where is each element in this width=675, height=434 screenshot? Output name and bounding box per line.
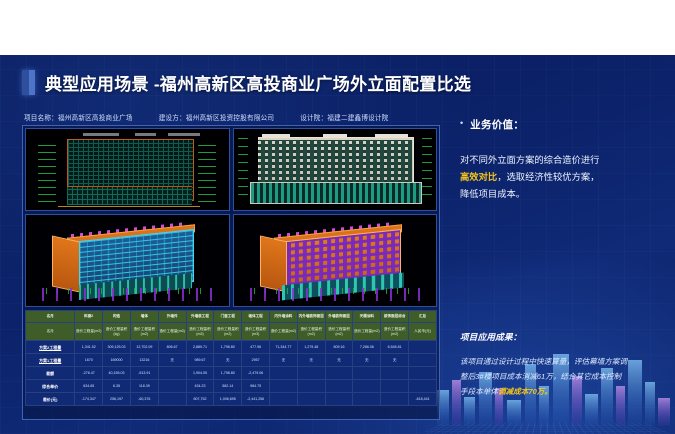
th-unit-8: 造价工程量(m2) <box>270 323 298 341</box>
cell: 634.65 <box>75 380 103 393</box>
th-category-7: 墙体工程 <box>242 311 270 323</box>
th-unit-13: 人民币(元) <box>409 323 437 341</box>
business-value-heading-row: • 业务价值： <box>460 117 660 132</box>
cell: 1670 <box>75 354 103 367</box>
th-unit-1: 造价工程量(m2) <box>75 323 103 341</box>
th-unit-11: 造价工程量(m2) <box>353 323 381 341</box>
cell: 256,197 <box>103 393 131 406</box>
business-value-line-1: 对不同外立面方案的综合造价进行 <box>460 152 660 169</box>
row-label: 方案1工程量 <box>26 354 75 367</box>
cell: 6.35 <box>103 380 131 393</box>
cell: 12,702.09 <box>130 341 158 354</box>
th-unit-3: 造价工程量积(m2) <box>130 323 158 341</box>
cell: 807,752 <box>186 393 214 406</box>
meta-design-institute: 设计院：福建二建鑫博设计院 <box>300 112 388 122</box>
cell <box>353 393 381 406</box>
cell <box>297 380 325 393</box>
th-category-12: 装饰面层综合 <box>381 311 409 323</box>
cell <box>409 341 437 354</box>
table-row: 综合单价 634.65 6.35 118.39 434.23 582.14 98… <box>26 380 437 393</box>
cell <box>325 393 353 406</box>
table-row: 差价(元) -174,347 256,197 -60,376 807,752 1… <box>26 393 437 406</box>
cell <box>270 367 298 380</box>
cell: 984.75 <box>242 380 270 393</box>
cell <box>270 393 298 406</box>
cell: 无 <box>297 354 325 367</box>
cell: 1,341.52 <box>75 341 103 354</box>
th-category-3: 墙体 <box>130 311 158 323</box>
th-unit-2: 造价工程量积(kg) <box>103 323 131 341</box>
project-result-heading: 项目应用成果： <box>460 331 665 343</box>
th-unit-5: 造价工程量积(m3) <box>186 323 214 341</box>
presentation-slide: 典型应用场景 -福州高新区高投商业广场外立面配置比选 项目名称：福州高新区高投商… <box>0 55 675 434</box>
cell: -276.47 <box>75 367 103 380</box>
cell: 2,889.71 <box>186 341 214 354</box>
table-header-row-category: 名月 料面2 构造 墙体 外墙件 外墙装工程 门窗工程 墙体工程 内外墙涂料 内… <box>26 311 437 323</box>
cell: 1,006,695 <box>214 393 242 406</box>
cell: 7,286.06 <box>353 341 381 354</box>
th-category-6: 门窗工程 <box>214 311 242 323</box>
project-result-line-3: 手段本单体调减成本70万。 <box>460 384 665 399</box>
rendered-elevation-icon <box>234 129 437 210</box>
cell <box>325 380 353 393</box>
gallery-item-cad-elevation-drawing[interactable] <box>25 128 230 211</box>
row-label: 方案2工程量 <box>26 341 75 354</box>
gallery-item-bim-model-scheme-2[interactable] <box>233 214 438 307</box>
cell <box>409 380 437 393</box>
cell: 1,904.05 <box>186 367 214 380</box>
th-category-10: 外墙装饰面层 <box>325 311 353 323</box>
slide-page: 典型应用场景 -福州高新区高投商业广场外立面配置比选 项目名称：福州高新区高投商… <box>0 0 675 434</box>
project-result-line-2: 整后3#楼项目成本消减61万，结合其它成本控制 <box>460 369 665 384</box>
th-unit-10: 造价工程量积(m2) <box>325 323 353 341</box>
cell: -2,441,256 <box>242 393 270 406</box>
cell: -513.91 <box>130 367 158 380</box>
cell: 309,125.03 <box>103 341 131 354</box>
project-result-line-3-prefix: 手段本单体 <box>460 387 498 396</box>
cell: 169000 <box>103 354 131 367</box>
th-unit-7: 造价工程量积(m3) <box>242 323 270 341</box>
cell <box>353 367 381 380</box>
table-header-row-unit: 名月 造价工程量(m2) 造价工程量积(kg) 造价工程量积(m2) 造价工程量… <box>26 323 437 341</box>
business-value-line-3: 降低项目成本。 <box>460 186 660 203</box>
cell <box>325 367 353 380</box>
cell: 无 <box>325 354 353 367</box>
bim-model-icon-1 <box>26 215 229 306</box>
cell: 无 <box>214 354 242 367</box>
business-value-highlight: 高效对比 <box>460 172 497 182</box>
cell: 13216 <box>130 354 158 367</box>
cell: 434.23 <box>186 380 214 393</box>
cad-elevation-icon <box>26 129 229 210</box>
quantity-comparison-table: 名月 料面2 构造 墙体 外墙件 外墙装工程 门窗工程 墙体工程 内外墙涂料 内… <box>25 310 437 406</box>
row-label: 差额 <box>26 367 75 380</box>
th-category-11: 天棚涂料 <box>353 311 381 323</box>
th-unit-0: 名月 <box>26 323 75 341</box>
project-result-block: 项目应用成果： 该项目通过设计过程中快速算量，评估幕墙方案调 整后3#楼项目成本… <box>460 331 665 399</box>
meta-developer: 建设方：福州高新区投资控股有限公司 <box>159 112 275 122</box>
cell: 477.96 <box>242 341 270 354</box>
cell: -618,441 <box>409 393 437 406</box>
row-label: 差价(元) <box>26 393 75 406</box>
cell: 989.67 <box>186 354 214 367</box>
row-label: 综合单价 <box>26 380 75 393</box>
page-title: 典型应用场景 -福州高新区高投商业广场外立面配置比选 <box>45 70 471 95</box>
cell: -60,376 <box>130 393 158 406</box>
cell: 6,545.81 <box>381 341 409 354</box>
cell <box>381 380 409 393</box>
cell: 无 <box>270 354 298 367</box>
cell <box>270 380 298 393</box>
image-gallery <box>25 128 437 307</box>
cell <box>353 380 381 393</box>
th-category-9: 内外墙装饰面层 <box>297 311 325 323</box>
cell <box>158 367 186 380</box>
th-unit-6: 造价工程量积(m2) <box>214 323 242 341</box>
cell: 1,279.48 <box>297 341 325 354</box>
cell <box>158 380 186 393</box>
business-value-heading: 业务价值： <box>470 117 524 132</box>
th-category-8: 内外墙涂料 <box>270 311 298 323</box>
cell: 582.14 <box>214 380 242 393</box>
slide-title-bar: 典型应用场景 -福州高新区高投商业广场外立面配置比选 <box>22 70 471 95</box>
cell <box>381 393 409 406</box>
bullet-icon: • <box>460 117 463 129</box>
cell: -174,347 <box>75 393 103 406</box>
table-body: 方案2工程量 1,341.52 309,125.03 12,702.09 806… <box>26 341 437 406</box>
th-unit-12: 造价工程量积(m2) <box>381 323 409 341</box>
table-row: 方案1工程量 1670 169000 13216 无 989.67 无 2957… <box>26 354 437 367</box>
cell <box>381 367 409 380</box>
gallery-item-rendered-elevation-view[interactable] <box>233 128 438 211</box>
business-value-line-2: 高效对比，选取经济性较优方案， <box>460 169 660 186</box>
quantity-comparison-table-wrap: 名月 料面2 构造 墙体 外墙件 外墙装工程 门窗工程 墙体工程 内外墙涂料 内… <box>25 310 437 406</box>
th-unit-4: 造价工程量(m3) <box>158 323 186 341</box>
business-value-line-2-rest: ，选取经济性较优方案， <box>497 172 599 182</box>
business-value-block: • 业务价值： 对不同外立面方案的综合造价进行 高效对比，选取经济性较优方案， … <box>460 117 660 203</box>
th-category-2: 构造 <box>103 311 131 323</box>
title-accent-bar <box>22 70 35 95</box>
project-result-line-1: 该项目通过设计过程中快速算量，评估幕墙方案调 <box>460 354 665 369</box>
th-category-1: 料面2 <box>75 311 103 323</box>
th-category-13: 汇总 <box>409 311 437 323</box>
wave-grid-decoration <box>425 422 675 434</box>
table-header: 名月 料面2 构造 墙体 外墙件 外墙装工程 门窗工程 墙体工程 内外墙涂料 内… <box>26 311 437 341</box>
th-unit-9: 造价工程量积(m2) <box>297 323 325 341</box>
cell: 无 <box>353 354 381 367</box>
gallery-item-bim-model-scheme-1[interactable] <box>25 214 230 307</box>
meta-project-name: 项目名称：福州高新区高投商业广场 <box>24 112 133 122</box>
cell: 无 <box>158 354 186 367</box>
table-row: 方案2工程量 1,341.52 309,125.03 12,702.09 806… <box>26 341 437 354</box>
cell: 118.39 <box>130 380 158 393</box>
cell: 无 <box>381 354 409 367</box>
content-frame: 名月 料面2 构造 墙体 外墙件 外墙装工程 门窗工程 墙体工程 内外墙涂料 内… <box>22 125 440 420</box>
th-category-0: 名月 <box>26 311 75 323</box>
project-result-body: 该项目通过设计过程中快速算量，评估幕墙方案调 整后3#楼项目成本消减61万，结合… <box>460 354 665 399</box>
cell: 609.16 <box>325 341 353 354</box>
cell <box>297 367 325 380</box>
cell: 1,798.80 <box>214 341 242 354</box>
cell <box>297 393 325 406</box>
business-value-paragraph: 对不同外立面方案的综合造价进行 高效对比，选取经济性较优方案， 降低项目成本。 <box>460 152 660 203</box>
cell <box>409 354 437 367</box>
cell: 71,344.77 <box>270 341 298 354</box>
cell: 2957 <box>242 354 270 367</box>
bim-model-icon-2 <box>234 215 437 306</box>
project-result-highlight: 调减成本70万。 <box>498 387 552 396</box>
project-meta-line: 项目名称：福州高新区高投商业广场 建设方：福州高新区投资控股有限公司 设计院：福… <box>24 112 389 122</box>
th-category-5: 外墙装工程 <box>186 311 214 323</box>
cell <box>158 393 186 406</box>
cell: 1,798.80 <box>214 367 242 380</box>
th-category-4: 外墙件 <box>158 311 186 323</box>
cell: 806.67 <box>158 341 186 354</box>
cell <box>409 367 437 380</box>
cell: -2,479.06 <box>242 367 270 380</box>
cell: 40,155.03 <box>103 367 131 380</box>
table-row: 差额 -276.47 40,155.03 -513.91 1,904.05 1,… <box>26 367 437 380</box>
